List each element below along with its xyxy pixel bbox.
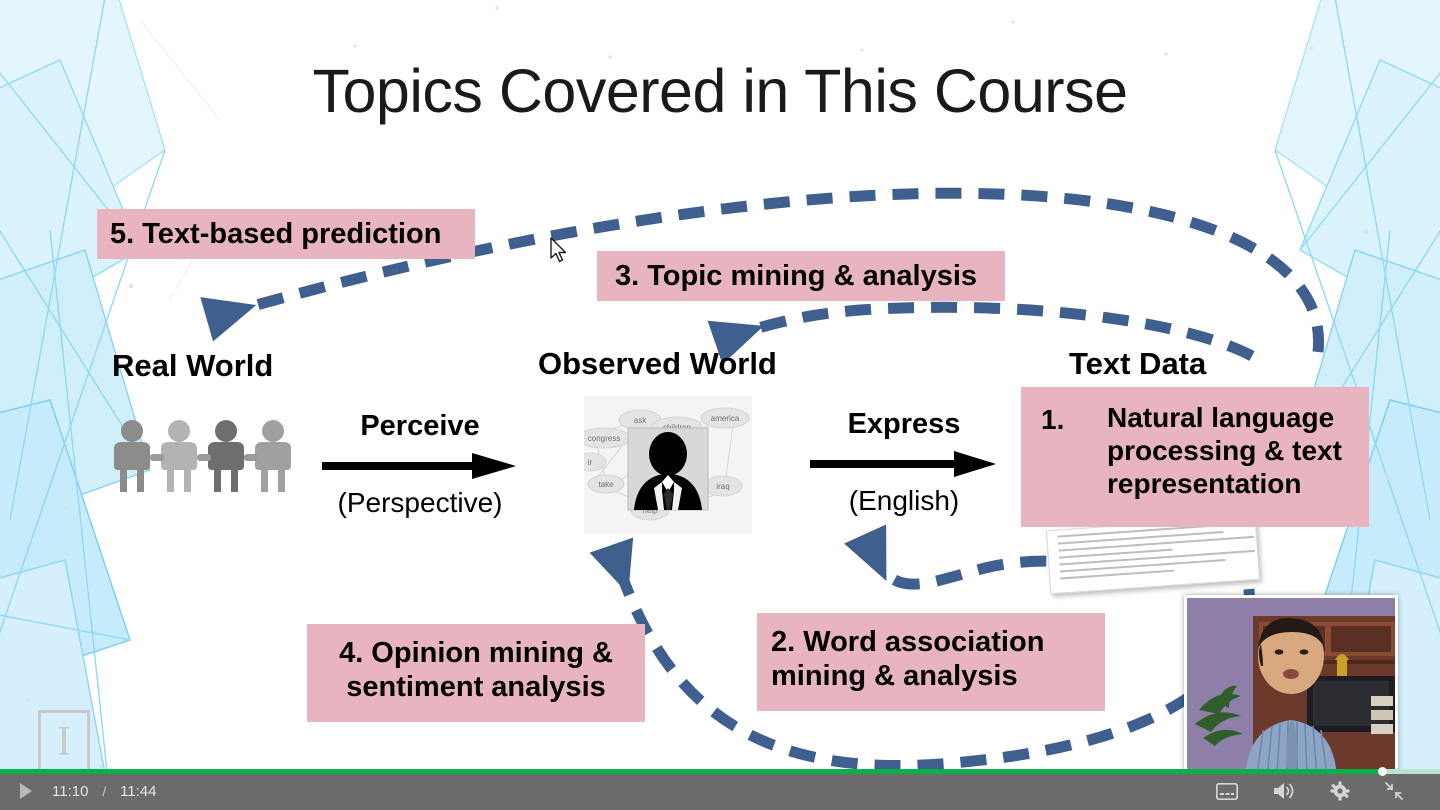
player-right-controls [1216, 781, 1440, 801]
mouse-cursor [549, 237, 569, 265]
current-time-label: 11:10 [52, 783, 88, 800]
topic-1-text: Natural language processing & text repre… [1107, 401, 1355, 500]
perceive-verb-label: Perceive [316, 410, 524, 443]
topic-label-4-opinion-mining: 4. Opinion mining & sentiment analysis [307, 624, 645, 722]
text-document-thumbnail [1046, 516, 1260, 594]
express-verb-label: Express [805, 408, 1003, 441]
solid-arrow-right-express [808, 447, 1000, 481]
svg-text:america: america [711, 414, 740, 423]
progress-bar-handle[interactable] [1378, 767, 1387, 776]
instructor-webcam-video[interactable] [1184, 595, 1398, 773]
express-paren-label: (English) [805, 485, 1003, 517]
stage-label-text-data: Text Data [1069, 346, 1206, 382]
exit-fullscreen-button[interactable] [1384, 781, 1404, 801]
svg-text:ir: ir [588, 458, 593, 467]
perceive-paren-label: (Perspective) [316, 487, 524, 519]
transition-express: Express (English) [805, 408, 1003, 517]
progress-bar-fill [0, 769, 1382, 774]
play-button[interactable] [0, 772, 52, 810]
topic-1-number: 1. [1041, 403, 1064, 436]
closed-caption-icon [1216, 783, 1238, 800]
total-time-label: 11:44 [120, 783, 156, 800]
topic-label-5-text-based-prediction: 5. Text-based prediction [97, 209, 475, 259]
closed-caption-button[interactable] [1216, 783, 1238, 800]
slide-canvas: Topics Covered in This Course Real World [0, 0, 1440, 780]
topic-label-2-word-association: 2. Word association mining & analysis [757, 613, 1105, 711]
video-player-page: Topics Covered in This Course Real World [0, 0, 1440, 810]
progress-bar-track[interactable] [0, 769, 1440, 774]
page-title: Topics Covered in This Course [0, 56, 1440, 126]
svg-text:ask: ask [634, 416, 647, 425]
university-logo-watermark: I [38, 710, 90, 774]
svg-text:iraq: iraq [716, 482, 729, 491]
topic-label-1-nlp: 1. Natural language processing & text re… [1021, 387, 1369, 527]
solid-arrow-right-perceive [320, 449, 520, 483]
stage-label-observed-world: Observed World [538, 346, 777, 382]
svg-text:take: take [598, 480, 614, 489]
stage-label-real-world: Real World [112, 348, 273, 384]
transition-perceive: Perceive (Perspective) [316, 410, 524, 519]
settings-gear-icon [1330, 781, 1350, 801]
logo-letter: I [57, 721, 71, 763]
svg-text:congress: congress [588, 434, 620, 443]
time-separator: / [102, 784, 106, 799]
volume-icon [1272, 781, 1296, 801]
video-player-controls: 11:10 / 11:44 [0, 772, 1440, 810]
play-icon [18, 782, 34, 800]
settings-button[interactable] [1330, 781, 1350, 801]
exit-fullscreen-icon [1384, 781, 1404, 801]
observed-world-thumbnail: ask children america congress ir take ir… [584, 396, 752, 534]
people-group-icon [110, 418, 300, 498]
topic-label-3-topic-mining: 3. Topic mining & analysis [597, 251, 1005, 301]
volume-button[interactable] [1272, 781, 1296, 801]
